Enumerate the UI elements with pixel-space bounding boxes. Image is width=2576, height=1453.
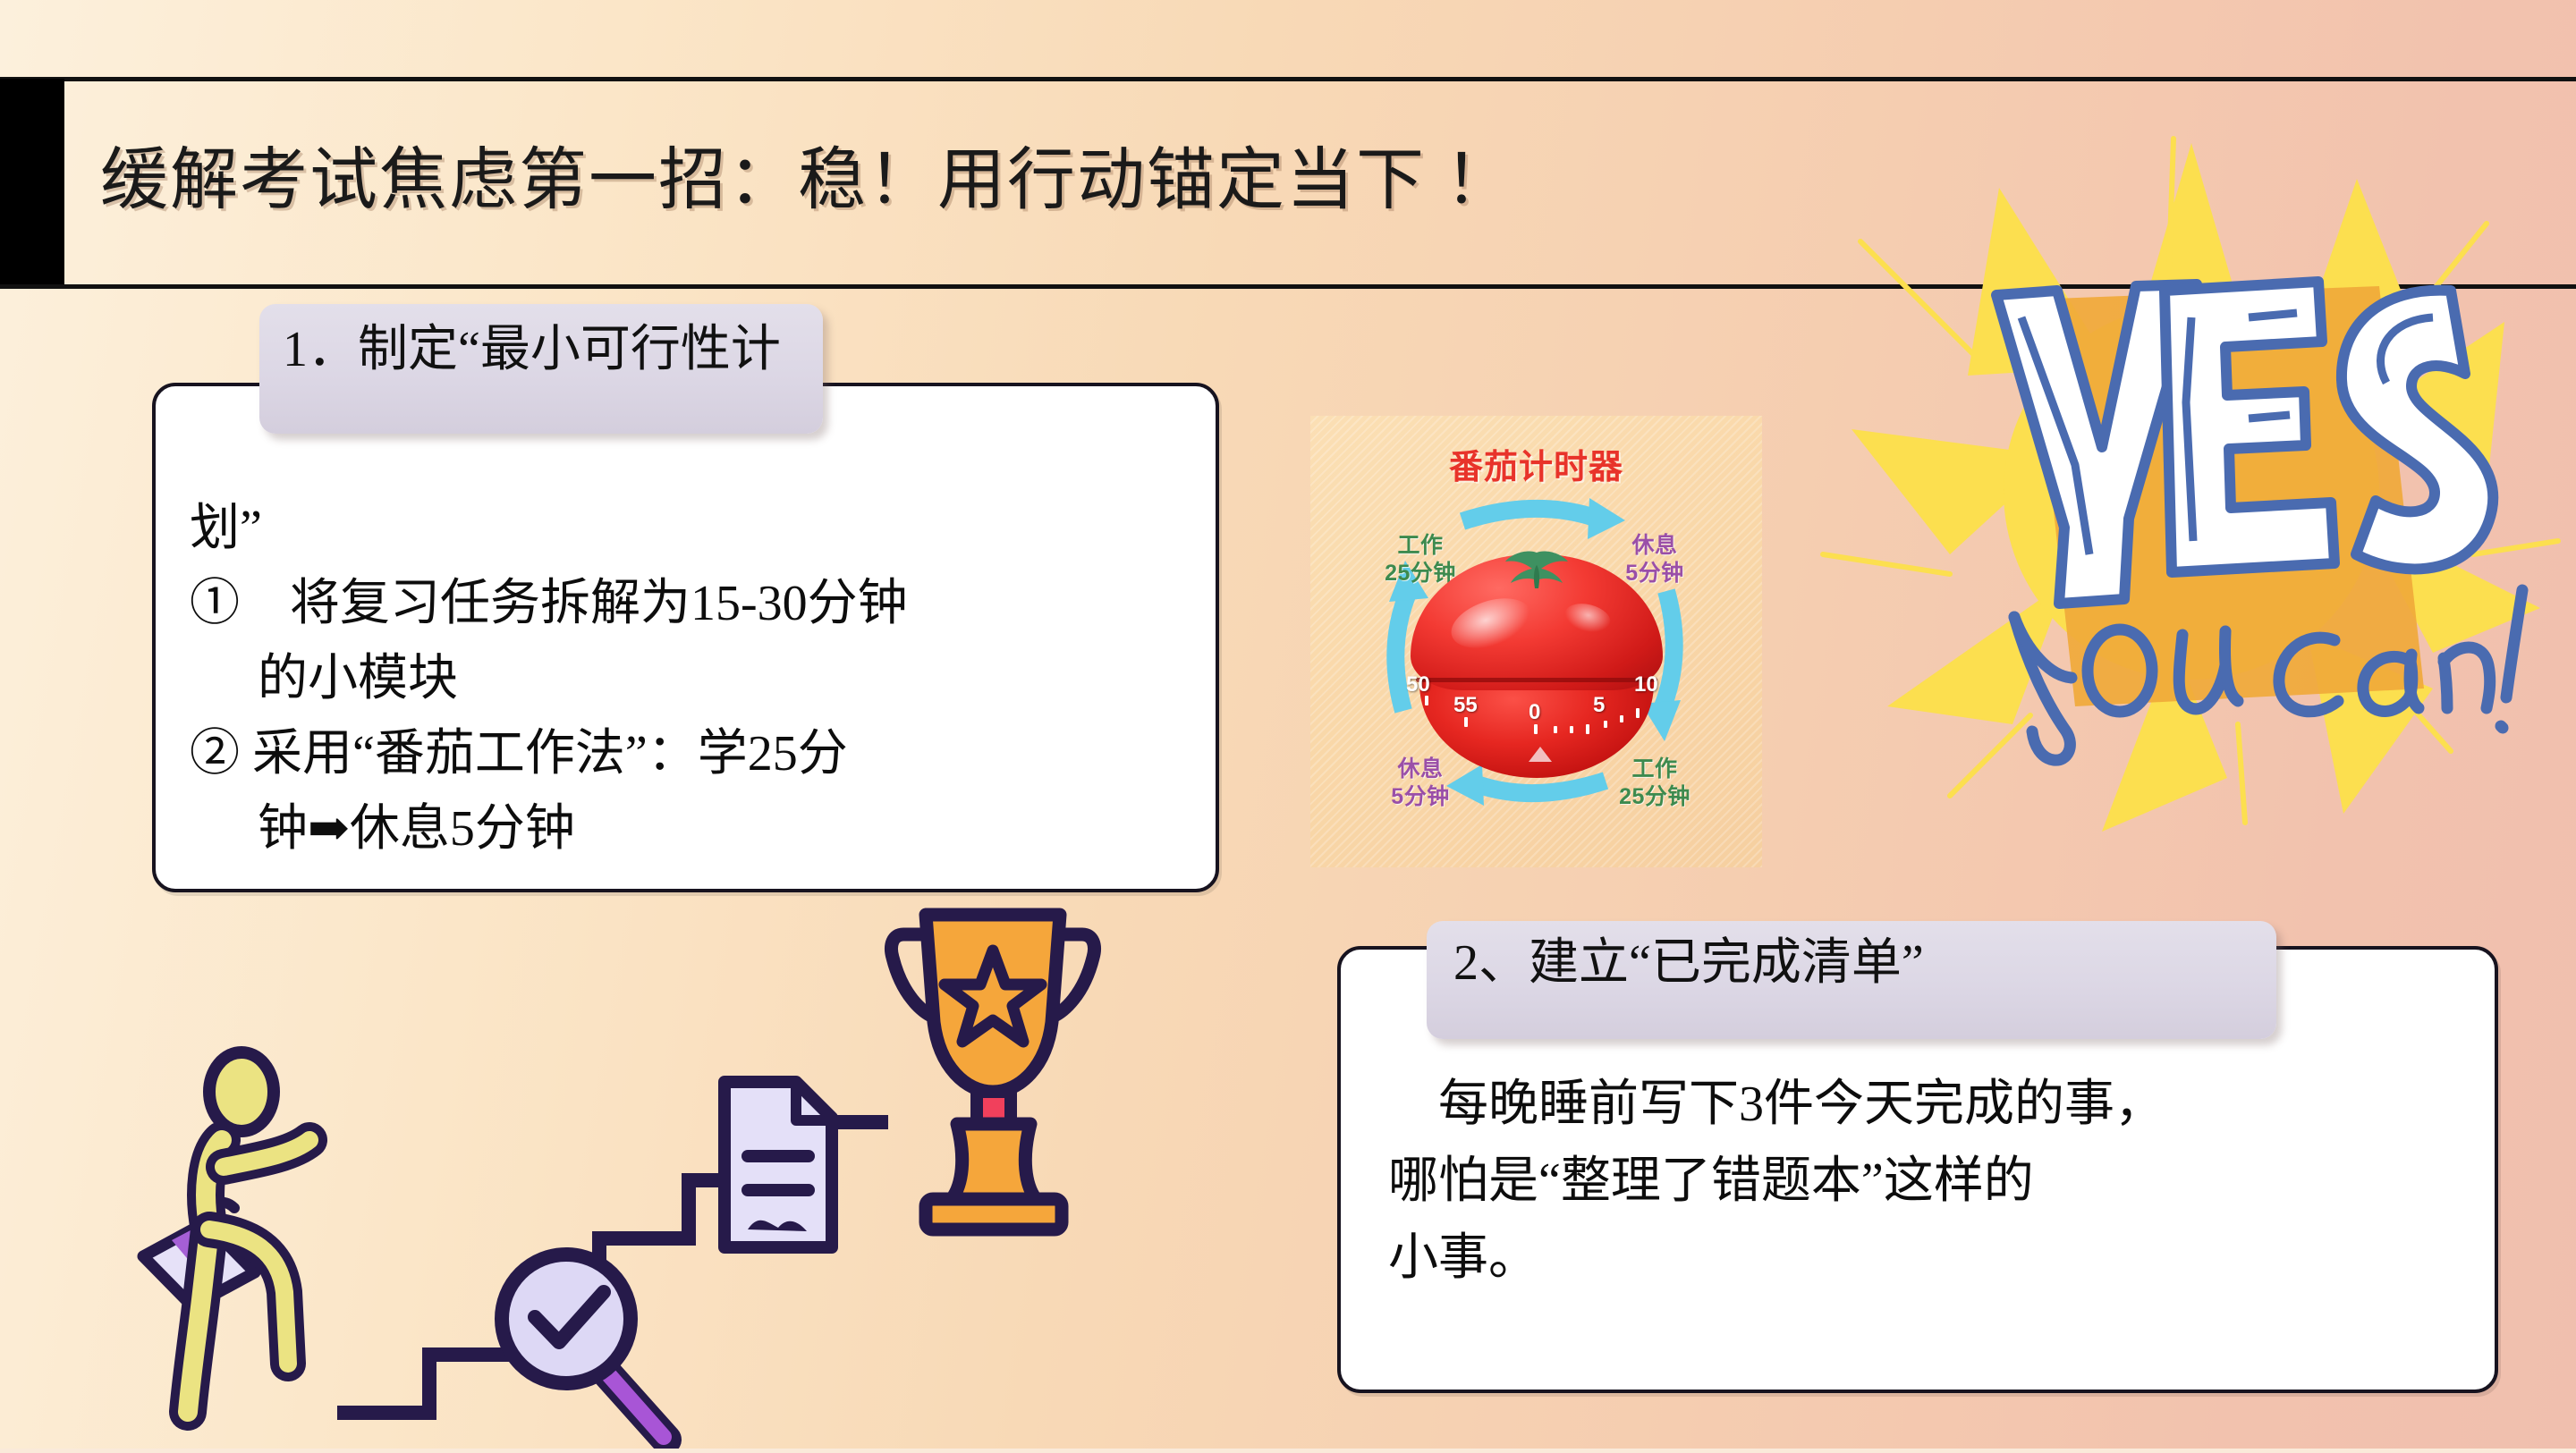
left-item-2-line-1: ② 采用“番茄工作法”：学25分 bbox=[190, 716, 1191, 791]
right-line-3: 小事。 bbox=[1388, 1220, 2462, 1297]
timer-label-work-bottom-right-line2: 25分钟 bbox=[1579, 783, 1731, 811]
tomato-seam bbox=[1416, 678, 1657, 682]
document-icon bbox=[724, 1082, 832, 1247]
left-item-1-line-1: ① 将复习任务拆解为15-30分钟 bbox=[190, 566, 1191, 641]
dial-tick bbox=[1620, 715, 1623, 722]
yes-you-can-graphic bbox=[1807, 134, 2576, 841]
dial-tick bbox=[1534, 724, 1538, 734]
tomato-timer-body: 50 55 0 5 10 bbox=[1411, 554, 1663, 778]
dial-tick bbox=[1604, 721, 1607, 728]
dial-number-0: 0 bbox=[1529, 700, 1540, 725]
left-card-badge: 1．制定“最小可行性计 bbox=[259, 304, 823, 434]
left-item-2-line-2: 钟➡休息5分钟 bbox=[190, 791, 1191, 866]
left-card-body: 划” ① 将复习任务拆解为15-30分钟 的小模块 ② 采用“番茄工作法”：学2… bbox=[190, 416, 1191, 866]
tomato-highlight-main bbox=[1445, 589, 1538, 657]
magnifier-check-icon bbox=[502, 1254, 666, 1440]
dial-tick bbox=[1636, 708, 1640, 718]
dial-tick bbox=[1425, 696, 1428, 705]
left-item-2-marker: ② bbox=[190, 726, 240, 781]
slide-root: 缓解考试焦虑第一招：稳！用行动锚定当下 ！ 划” ① 将复习任务拆解为15-30… bbox=[0, 0, 2576, 1449]
dial-number-10: 10 bbox=[1634, 672, 1658, 697]
right-line-1: 每晚睡前写下3件今天完成的事， bbox=[1388, 1066, 2462, 1143]
stairs-svg bbox=[116, 872, 1181, 1449]
dial-pointer-icon bbox=[1529, 747, 1552, 762]
left-badge-wrap-line: 划” bbox=[190, 491, 1191, 566]
dial-tick bbox=[1570, 726, 1573, 733]
climbing-person-icon bbox=[143, 1052, 309, 1412]
right-card-body: 每晚睡前写下3件今天完成的事， 哪怕是“整理了错题本”这样的 小事。 bbox=[1388, 1066, 2462, 1297]
page-title: 缓解考试焦虑第一招：稳！用行动锚定当下 ！ bbox=[100, 100, 2068, 261]
left-card-badge-label: 1．制定“最小可行性计 bbox=[283, 317, 800, 383]
dial-number-50: 50 bbox=[1406, 672, 1430, 697]
tomato-highlight-secondary bbox=[1562, 599, 1614, 637]
dial-number-5: 5 bbox=[1593, 693, 1605, 718]
right-line-2: 哪怕是“整理了错题本”这样的 bbox=[1388, 1143, 2462, 1220]
trophy-icon bbox=[892, 915, 1095, 1229]
dial-tick bbox=[1464, 717, 1468, 727]
left-item-1-line-2: 的小模块 bbox=[190, 641, 1191, 716]
right-card-badge-label: 2、建立“已完成清单” bbox=[1453, 930, 2250, 996]
tomato-stem-icon bbox=[1496, 547, 1577, 594]
dial-tick bbox=[1554, 726, 1557, 733]
header-top-rule bbox=[0, 77, 2576, 81]
dial-tick bbox=[1586, 724, 1589, 734]
left-item-2-text: 采用“番茄工作法”：学25分 bbox=[252, 726, 848, 781]
dial-number-55: 55 bbox=[1453, 693, 1478, 718]
stairs-success-illustration bbox=[116, 872, 1181, 1449]
header-left-block bbox=[0, 79, 64, 284]
right-card-badge: 2、建立“已完成清单” bbox=[1427, 921, 2276, 1039]
yes-burst-svg bbox=[1807, 134, 2576, 841]
timer-label-rest-bottom-left-line2: 5分钟 bbox=[1344, 783, 1496, 811]
left-item-1-text: 将复习任务拆解为15-30分钟 bbox=[240, 576, 908, 631]
pomodoro-timer-image: 番茄计时器 工作 25分钟 休息 5分钟 休息 5分钟 bbox=[1310, 416, 1762, 867]
left-item-1-marker: ① bbox=[190, 576, 240, 631]
